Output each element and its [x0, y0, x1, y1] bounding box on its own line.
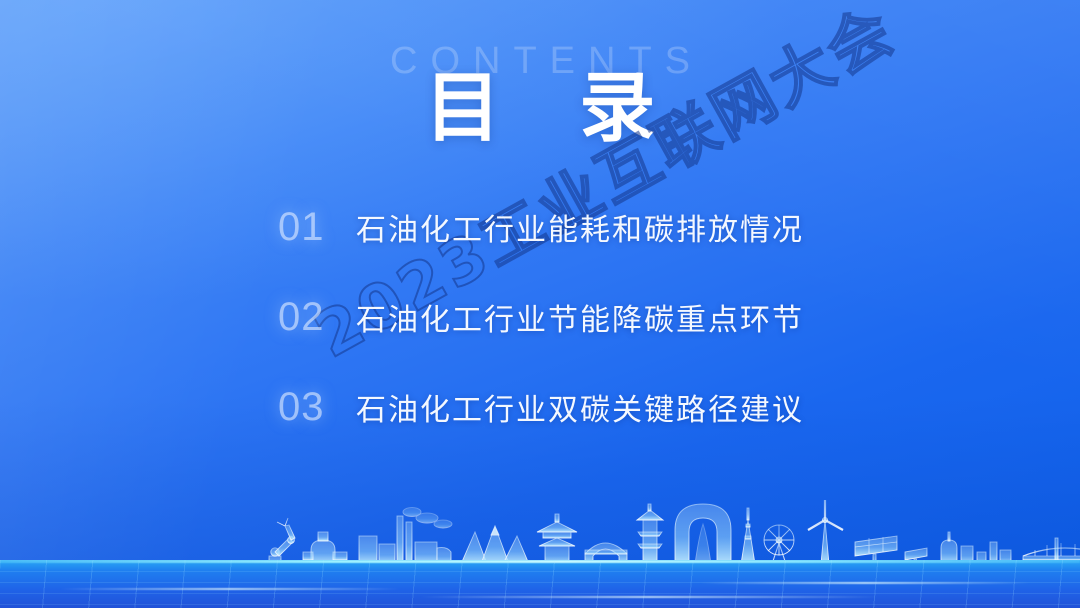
toc-item-label: 石油化工行业双碳关键路径建议 — [356, 385, 804, 429]
toc-item-01[interactable]: 01 石油化工行业能耗和碳排放情况 — [278, 196, 798, 258]
ground-light-streak — [60, 588, 400, 590]
toc-item-03[interactable]: 03 石油化工行业双碳关键路径建议 — [278, 376, 798, 438]
page-title: 目 录 — [0, 66, 1080, 150]
slide-heading: CONTENTS 目 录 — [0, 42, 1080, 150]
toc-item-number: 01 — [278, 207, 356, 247]
gate-of-the-orient-icon — [675, 504, 731, 564]
toc-item-label: 石油化工行业能耗和碳排放情况 — [356, 205, 804, 249]
robot-arm-icon — [269, 518, 295, 564]
city-skyline-artwork — [255, 502, 815, 564]
wind-turbine-icon — [808, 500, 843, 564]
slide-canvas: CONTENTS 目 录 2023工业互联网大会 01 石油化工行业能耗和碳排放… — [0, 0, 1080, 608]
suspension-bridge-icon — [1023, 538, 1080, 560]
toc-item-number: 02 — [278, 297, 356, 337]
ground-light-streak — [420, 596, 880, 598]
pagoda-icon — [637, 504, 663, 564]
tv-tower-icon — [741, 508, 755, 564]
perspective-grid — [0, 560, 1080, 608]
ground-light-streak — [700, 582, 1030, 584]
pavilion-icon — [537, 514, 577, 564]
ferris-wheel-icon — [764, 525, 794, 564]
table-of-contents-list: 01 石油化工行业能耗和碳排放情况 02 石油化工行业节能降碳重点环节 03 石… — [278, 196, 798, 466]
mountain-icon — [461, 526, 529, 564]
toc-item-number: 03 — [278, 387, 356, 427]
toc-item-02[interactable]: 02 石油化工行业节能降碳重点环节 — [278, 286, 798, 348]
toc-item-label: 石油化工行业节能降碳重点环节 — [356, 295, 804, 339]
ground-plane-grid — [0, 560, 1080, 608]
